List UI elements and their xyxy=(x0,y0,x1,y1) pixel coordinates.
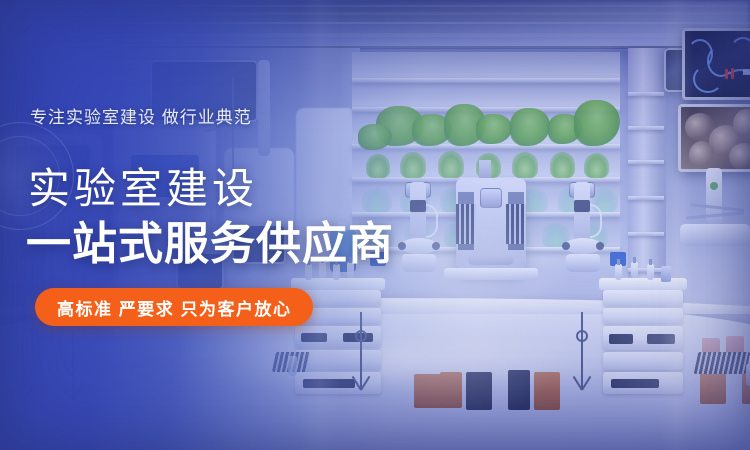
banner-tagline: 专注实验室建设 做行业典范 xyxy=(30,109,252,126)
headline-line-2: 一站式服务供应商 xyxy=(26,221,394,266)
banner-copy: 专注实验室建设 做行业典范 实验室建设 一站式服务供应商 高标准 严要求 只为客… xyxy=(0,0,750,450)
lab-construction-banner: 专注实验室建设 做行业典范 实验室建设 一站式服务供应商 高标准 严要求 只为客… xyxy=(0,0,750,450)
cta-button[interactable]: 高标准 严要求 只为客户放心 xyxy=(35,288,313,326)
headline-line-1: 实验室建设 xyxy=(28,168,258,210)
